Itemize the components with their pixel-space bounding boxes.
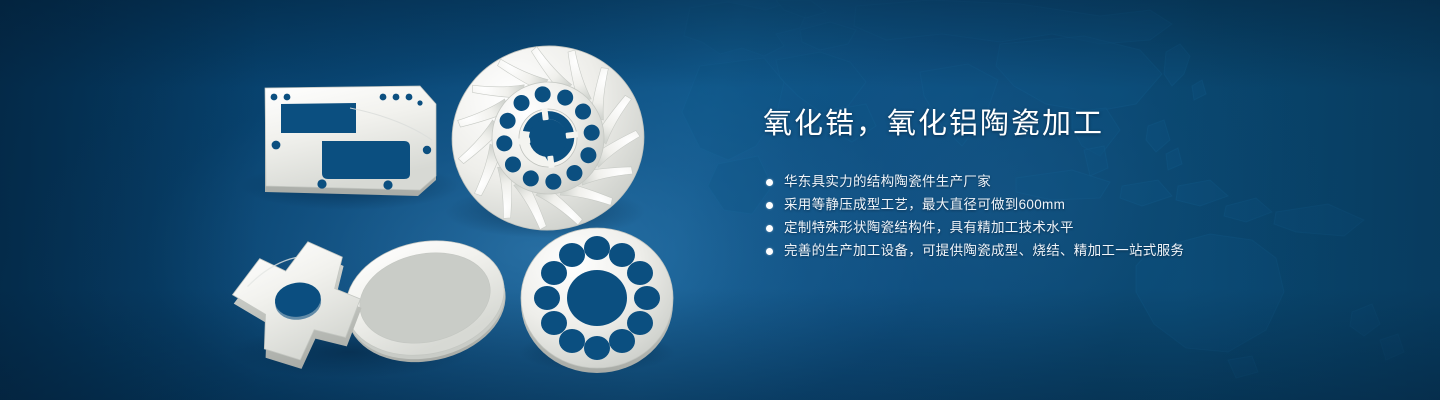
- list-item: 采用等静压成型工艺，最大直径可做到600mm: [763, 196, 1383, 214]
- page-title: 氧化锆，氧化铝陶瓷加工: [763, 104, 1383, 144]
- list-item: 定制特殊形状陶瓷结构件，具有精加工技术水平: [763, 219, 1383, 237]
- feature-text: 采用等静压成型工艺，最大直径可做到600mm: [784, 196, 1065, 214]
- ceramic-machined-plate: [265, 86, 436, 196]
- bullet-dot-icon: [766, 202, 773, 209]
- feature-text: 完善的生产加工设备，可提供陶瓷成型、烧结、精加工一站式服务: [784, 242, 1184, 260]
- bullet-dot-icon: [766, 225, 773, 232]
- list-item: 华东具实力的结构陶瓷件生产厂家: [763, 173, 1383, 191]
- bullet-dot-icon: [766, 248, 773, 255]
- ceramic-processing-hero-banner: 氧化锆，氧化铝陶瓷加工 华东具实力的结构陶瓷件生产厂家 采用等静压成型工艺，最大…: [0, 0, 1440, 400]
- bullet-dot-icon: [766, 179, 773, 186]
- product-photo-group: [0, 0, 740, 400]
- feature-text: 华东具实力的结构陶瓷件生产厂家: [784, 173, 991, 191]
- banner-copy: 氧化锆，氧化铝陶瓷加工 华东具实力的结构陶瓷件生产厂家 采用等静压成型工艺，最大…: [763, 104, 1383, 265]
- list-item: 完善的生产加工设备，可提供陶瓷成型、烧结、精加工一站式服务: [763, 242, 1383, 260]
- feature-text: 定制特殊形状陶瓷结构件，具有精加工技术水平: [784, 219, 1074, 237]
- ceramic-perforated-disc: [521, 228, 673, 373]
- feature-list: 华东具实力的结构陶瓷件生产厂家 采用等静压成型工艺，最大直径可做到600mm 定…: [763, 173, 1383, 260]
